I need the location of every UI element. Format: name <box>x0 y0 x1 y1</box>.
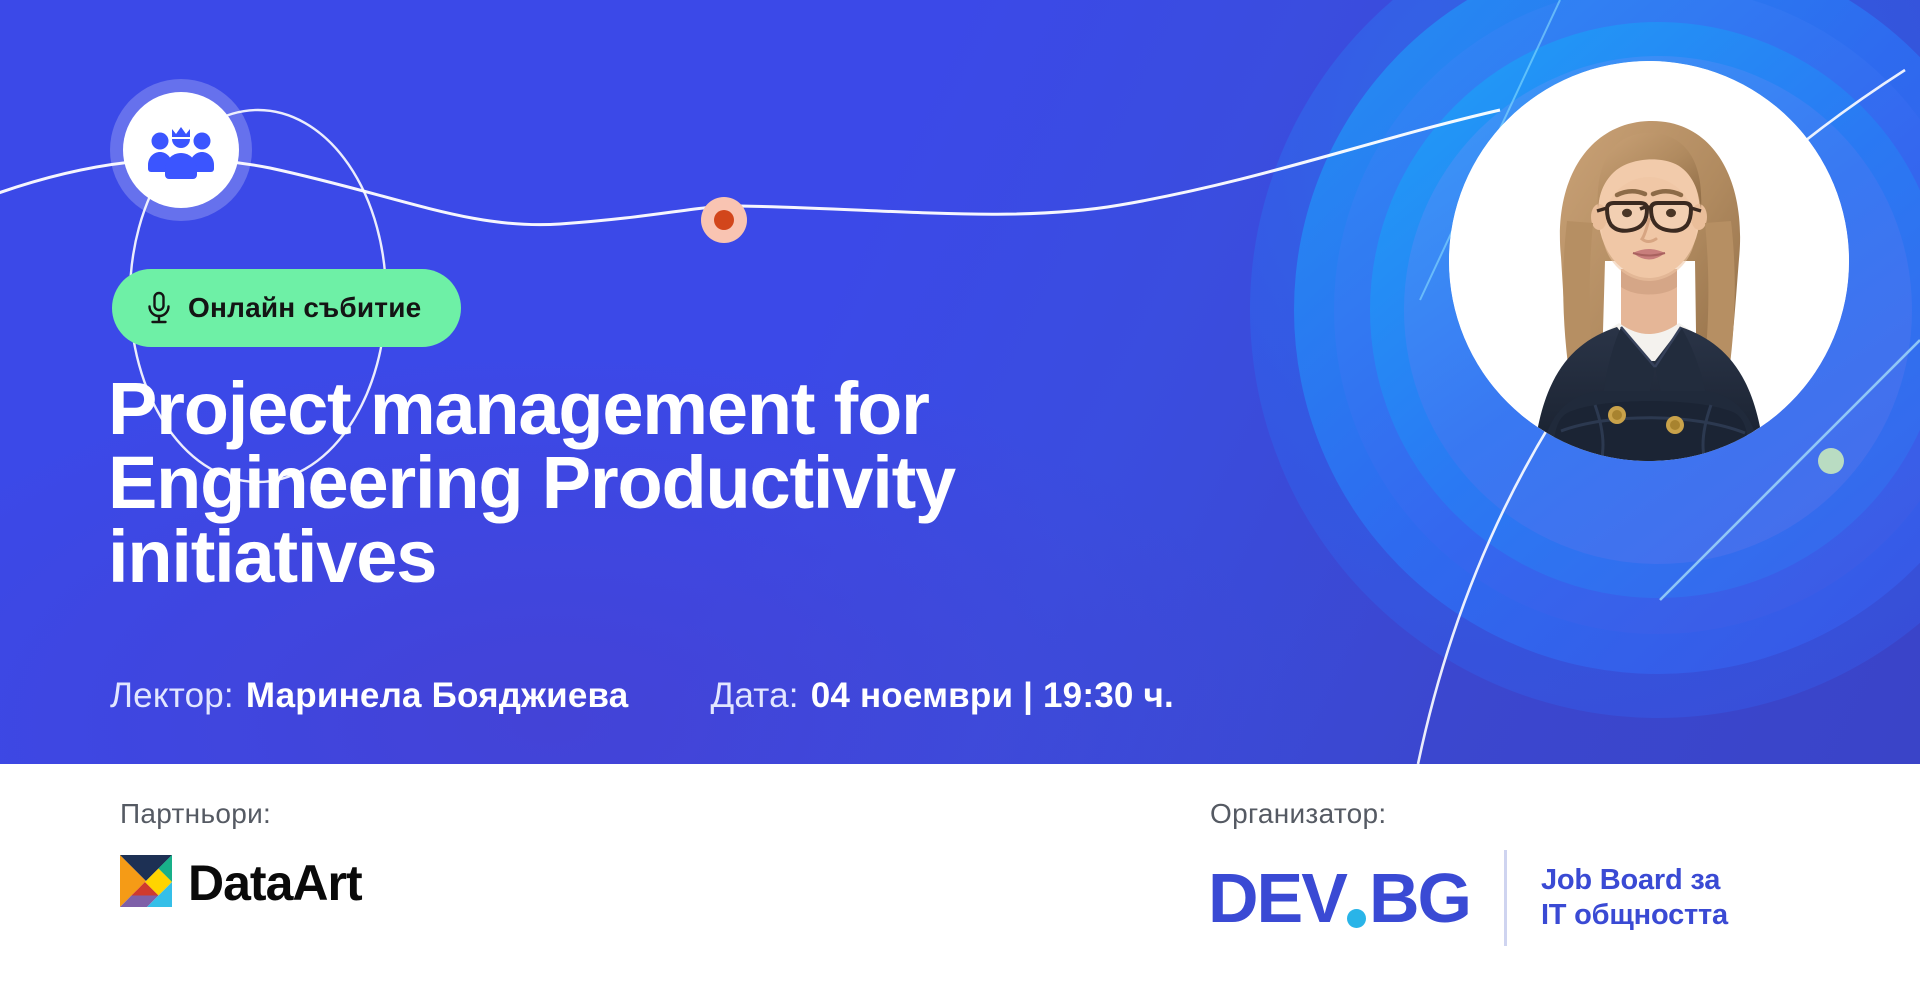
partner-logo-dataart[interactable]: DataArt <box>120 854 362 912</box>
speaker-portrait <box>1449 61 1849 461</box>
footer-section: Партньори: <box>0 764 1920 1005</box>
speaker-label: Лектор: <box>110 676 234 716</box>
event-meta: Лектор: Маринела Бояджиева Дата: 04 ноем… <box>110 676 1174 716</box>
organizer-divider <box>1504 850 1507 946</box>
title-line-2: Engineering Productivity <box>108 446 1228 520</box>
speaker-name: Маринела Бояджиева <box>246 676 629 716</box>
dataart-tangram-icon <box>120 855 172 912</box>
partners-block: Партньори: <box>120 798 362 912</box>
organizer-tagline: Job Board за IT общността <box>1541 863 1728 934</box>
organizer-label: Организатор: <box>1210 798 1728 830</box>
online-event-badge[interactable]: Онлайн събитие <box>112 269 461 347</box>
organizer-logo-row[interactable]: DEV BG Job Board за IT общността <box>1208 850 1728 946</box>
devbg-logo-dot <box>1347 909 1366 928</box>
hero-section: Онлайн събитие Project management for En… <box>0 0 1920 764</box>
partners-label: Партньори: <box>120 798 362 830</box>
title-line-1: Project management for <box>108 372 1228 446</box>
community-icon-badge <box>123 92 239 208</box>
organizer-tagline-line-2: IT общността <box>1541 898 1728 933</box>
orange-dot-marker <box>701 197 747 243</box>
devbg-logo[interactable]: DEV BG <box>1208 863 1470 933</box>
organizer-block: Организатор: DEV BG Job Board за IT общн… <box>1208 798 1728 946</box>
devbg-logo-suffix: BG <box>1369 863 1470 933</box>
mint-dot-marker <box>1818 448 1844 474</box>
speaker-meta: Лектор: Маринела Бояджиева <box>110 676 628 716</box>
organizer-tagline-line-1: Job Board за <box>1541 863 1728 898</box>
event-banner: Онлайн събитие Project management for En… <box>0 0 1920 1005</box>
title-line-3: initiatives <box>108 520 1228 594</box>
page-title: Project management for Engineering Produ… <box>108 372 1228 594</box>
online-event-badge-label: Онлайн събитие <box>188 292 421 324</box>
date-value: 04 ноември | 19:30 ч. <box>811 676 1174 716</box>
devbg-logo-main: DEV <box>1208 863 1346 933</box>
microphone-icon <box>146 291 172 325</box>
date-label: Дата: <box>710 676 798 716</box>
date-meta: Дата: 04 ноември | 19:30 ч. <box>710 676 1173 716</box>
partner-name-dataart: DataArt <box>188 854 362 912</box>
people-group-crown-icon <box>146 121 216 179</box>
